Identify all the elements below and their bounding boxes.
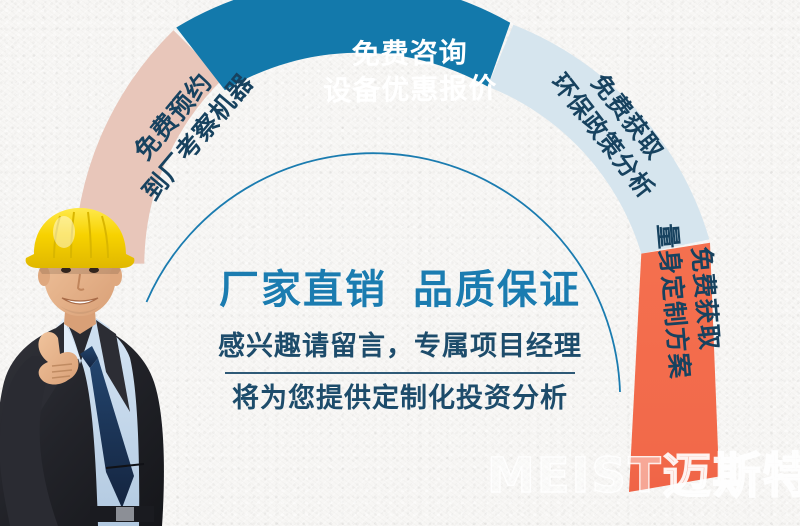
segment-consult-line-1: 免费咨询 — [299, 34, 520, 74]
belt-buckle — [116, 507, 134, 521]
promo-banner: 免费预约 到厂考察机器 免费咨询 设备优惠报价 免费获取 环保政策分析 免费获取… — [0, 0, 800, 526]
watermark-chinese: 迈斯特重工 — [663, 448, 800, 504]
headline-right: 品质保证 — [413, 267, 581, 313]
divider — [225, 372, 575, 374]
headline: 厂家直销品质保证 — [190, 268, 610, 313]
hard-hat-highlight — [53, 216, 75, 248]
hard-hat-brim-shadow — [38, 268, 122, 274]
watermark-latin: MEIST — [487, 448, 663, 504]
watermark-logo: MEIST迈斯特重工 — [487, 452, 800, 500]
sub-line-1: 感兴趣请留言，专属项目经理 — [190, 331, 610, 363]
center-message: 厂家直销品质保证 感兴趣请留言，专属项目经理 将为您提供定制化投资分析 — [190, 268, 610, 416]
businessman-thumbs-up — [0, 206, 209, 526]
segment-consult-line-2: 设备优惠报价 — [300, 70, 521, 110]
segment-consult-label: 免费咨询 设备优惠报价 — [299, 34, 520, 109]
sub-line-2: 将为您提供定制化投资分析 — [190, 383, 610, 415]
headline-left: 厂家直销 — [219, 267, 387, 313]
hard-hat — [26, 208, 135, 268]
